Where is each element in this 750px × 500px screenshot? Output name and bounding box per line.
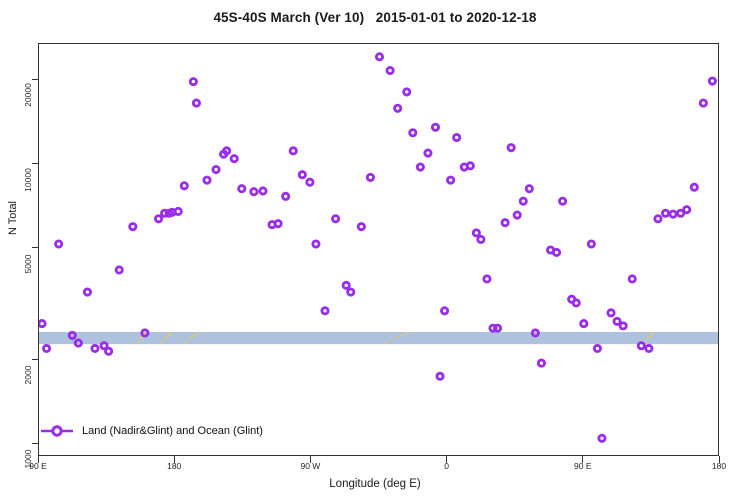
data-point xyxy=(478,236,484,242)
data-point xyxy=(181,183,187,189)
figure-root: 45S-40S March (Ver 10) 2015-01-01 to 202… xyxy=(0,0,750,500)
data-point xyxy=(437,373,443,379)
x-tick-label: 90 E xyxy=(8,461,68,471)
data-point xyxy=(106,348,112,354)
data-point xyxy=(130,224,136,230)
data-point xyxy=(514,212,520,218)
data-point xyxy=(404,89,410,95)
page-title: 45S-40S March (Ver 10) 2015-01-01 to 202… xyxy=(0,10,750,25)
data-point xyxy=(367,174,373,180)
data-point xyxy=(638,343,644,349)
data-point xyxy=(410,130,416,136)
legend-item-label: Land (Nadir&Glint) and Ocean (Glint) xyxy=(82,425,263,437)
data-point xyxy=(39,321,45,327)
land-segment xyxy=(718,333,719,343)
data-point xyxy=(670,211,676,217)
data-point xyxy=(417,164,423,170)
legend: Land (Nadir&Glint) and Ocean (Glint) xyxy=(40,424,263,438)
data-point xyxy=(484,276,490,282)
data-point xyxy=(608,310,614,316)
data-point xyxy=(553,249,559,255)
data-point xyxy=(441,308,447,314)
y-axis-label: N Total xyxy=(7,173,19,263)
data-point xyxy=(684,207,690,213)
y-tick-label: 20000 xyxy=(23,78,33,112)
data-point xyxy=(581,321,587,327)
data-point xyxy=(700,100,706,106)
data-point xyxy=(260,188,266,194)
data-point xyxy=(454,134,460,140)
x-tick-label: 90 E xyxy=(553,461,613,471)
data-point xyxy=(283,193,289,199)
data-point xyxy=(709,78,715,84)
data-point xyxy=(204,177,210,183)
data-point xyxy=(473,230,479,236)
data-point xyxy=(662,210,668,216)
data-point xyxy=(467,163,473,169)
data-point xyxy=(190,79,196,85)
y-tick-label: 1000 xyxy=(23,442,33,476)
data-point xyxy=(290,148,296,154)
data-point xyxy=(526,186,532,192)
data-point xyxy=(333,216,339,222)
data-point xyxy=(348,289,354,295)
data-point xyxy=(594,345,600,351)
x-tick-label: 180 xyxy=(689,461,749,471)
y-tick-label: 5000 xyxy=(23,247,33,281)
data-point xyxy=(599,435,605,441)
data-point xyxy=(84,289,90,295)
data-point xyxy=(116,267,122,273)
data-point xyxy=(646,345,652,351)
data-point xyxy=(425,150,431,156)
data-point xyxy=(239,186,245,192)
data-point xyxy=(502,220,508,226)
data-point xyxy=(691,184,697,190)
data-point xyxy=(213,166,219,172)
data-point xyxy=(620,323,626,329)
data-point xyxy=(560,198,566,204)
scatter-canvas xyxy=(39,44,719,456)
data-point xyxy=(43,345,49,351)
data-point xyxy=(387,67,393,73)
data-point xyxy=(432,124,438,130)
data-point xyxy=(508,145,514,151)
plot-area xyxy=(38,43,719,456)
data-point xyxy=(155,216,161,222)
data-point xyxy=(251,189,257,195)
x-tick-label: 180 xyxy=(144,461,204,471)
data-point xyxy=(395,105,401,111)
data-point xyxy=(520,198,526,204)
x-tick-label: 0 xyxy=(417,461,477,471)
data-point xyxy=(231,156,237,162)
data-point xyxy=(307,179,313,185)
data-point xyxy=(193,100,199,106)
data-point xyxy=(376,54,382,60)
data-point xyxy=(175,208,181,214)
data-point xyxy=(573,300,579,306)
data-point xyxy=(358,224,364,230)
y-tick-label: 2000 xyxy=(23,358,33,392)
legend-marker-swatch xyxy=(40,424,74,438)
y-tick-label: 10000 xyxy=(23,163,33,197)
data-point xyxy=(313,241,319,247)
data-point xyxy=(56,241,62,247)
data-point xyxy=(655,216,661,222)
data-point xyxy=(275,221,281,227)
data-point xyxy=(343,282,349,288)
data-point xyxy=(322,308,328,314)
data-point xyxy=(538,360,544,366)
data-point xyxy=(448,177,454,183)
data-point xyxy=(299,172,305,178)
data-point xyxy=(629,276,635,282)
data-point xyxy=(588,241,594,247)
x-tick-label: 90 W xyxy=(280,461,340,471)
data-point xyxy=(92,345,98,351)
x-axis-label: Longitude (deg E) xyxy=(0,478,750,490)
